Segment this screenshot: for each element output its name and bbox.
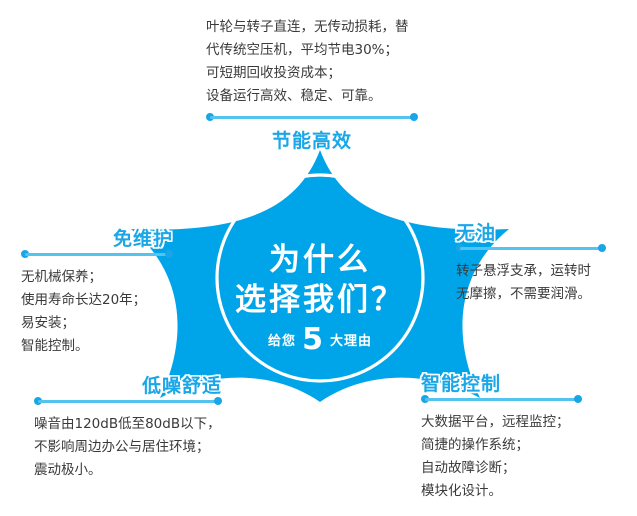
body-line: 设备运行高效、稳定、可靠。: [206, 85, 418, 108]
connector-dot-right-icon: [598, 244, 606, 252]
feature-body-energy-saving: 叶轮与转子直连，无传动损耗，替 代传统空压机，平均节电30%； 可短期回收投资成…: [206, 16, 418, 108]
body-line: 无摩擦，不需要润滑。: [456, 283, 606, 306]
connector-line-icon: [206, 113, 418, 122]
body-line: 易安装；: [21, 312, 173, 335]
body-line: 自动故障诊断；: [421, 457, 582, 480]
body-line: 智能控制。: [21, 335, 173, 358]
connector-dot-right-icon: [410, 113, 418, 121]
connector-line-icon: [34, 397, 222, 406]
feature-title-low-noise: 低噪舒适: [34, 375, 222, 397]
feature-body-maintenance-free: 无机械保养； 使用寿命长达20年； 易安装； 智能控制。: [21, 266, 173, 358]
connector-bar: [38, 400, 218, 403]
feature-block-maintenance-free[interactable]: 免维护 无机械保养； 使用寿命长达20年； 易安装； 智能控制。: [21, 228, 173, 358]
body-line: 转子悬浮支承，运转时: [456, 260, 606, 283]
body-line: 无机械保养；: [21, 266, 173, 289]
connector-dot-right-icon: [574, 395, 582, 403]
feature-title-smart-control: 智能控制: [421, 373, 582, 395]
feature-body-oil-free: 转子悬浮支承，运转时 无摩擦，不需要润滑。: [456, 260, 606, 306]
feature-block-low-noise[interactable]: 低噪舒适 噪音由120dB低至80dB以下， 不影响周边办公与居住环境； 震动极…: [34, 375, 222, 482]
connector-dot-right-icon: [214, 397, 222, 405]
body-line: 噪音由120dB低至80dB以下，: [34, 413, 222, 436]
feature-title-oil-free: 无油: [456, 222, 606, 244]
body-line: 叶轮与转子直连，无传动损耗，替: [206, 16, 418, 39]
connector-bar: [460, 247, 602, 250]
feature-block-smart-control[interactable]: 智能控制 大数据平台，远程监控； 简捷的操作系统； 自动故障诊断； 模块化设计。: [421, 373, 582, 503]
connector-line-icon: [21, 250, 173, 259]
body-line: 使用寿命长达20年；: [21, 289, 173, 312]
body-line: 大数据平台，远程监控；: [421, 411, 582, 434]
connector-bar: [25, 253, 169, 256]
body-line: 模块化设计。: [421, 480, 582, 503]
star-badge-shape: [131, 150, 509, 402]
body-line: 简捷的操作系统；: [421, 434, 582, 457]
body-line: 可短期回收投资成本；: [206, 62, 418, 85]
connector-dot-right-icon: [165, 250, 173, 258]
body-line: 震动极小。: [34, 459, 222, 482]
body-line: 不影响周边办公与居住环境；: [34, 436, 222, 459]
feature-block-oil-free[interactable]: 无油 转子悬浮支承，运转时 无摩擦，不需要润滑。: [456, 222, 606, 306]
feature-title-energy-saving: 节能高效: [206, 130, 418, 152]
feature-title-maintenance-free: 免维护: [21, 228, 173, 250]
connector-line-icon: [421, 395, 582, 404]
connector-line-icon: [456, 244, 606, 253]
feature-body-low-noise: 噪音由120dB低至80dB以下， 不影响周边办公与居住环境； 震动极小。: [34, 413, 222, 482]
body-line: 代传统空压机，平均节电30%；: [206, 39, 418, 62]
connector-bar: [210, 116, 414, 119]
infographic-canvas: 为什么 选择我们？ 给您 5 大理由 叶轮与转子直连，无传动损耗，替 代传统空压…: [0, 0, 637, 516]
feature-body-smart-control: 大数据平台，远程监控； 简捷的操作系统； 自动故障诊断； 模块化设计。: [421, 411, 582, 503]
connector-bar: [425, 398, 578, 401]
feature-block-energy-saving[interactable]: 叶轮与转子直连，无传动损耗，替 代传统空压机，平均节电30%； 可短期回收投资成…: [206, 16, 418, 152]
